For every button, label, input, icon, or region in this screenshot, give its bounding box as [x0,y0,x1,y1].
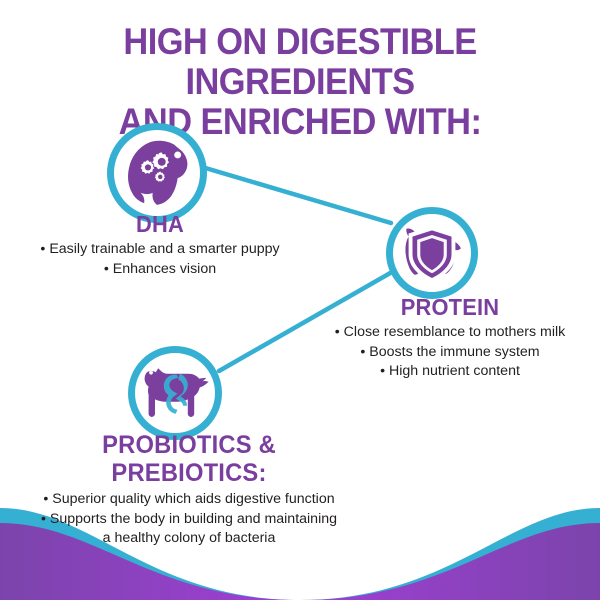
dog-digestive-icon [135,353,215,433]
probiotics-bullet-list: Superior quality which aids digestive fu… [24,490,354,549]
list-item: Superior quality which aids digestive fu… [24,490,354,510]
protein-section: PROTEIN Close resemblance to mothers mil… [300,295,600,382]
list-item: Boosts the immune system [300,343,600,363]
probiotics-title: PROBIOTICS & PREBIOTICS: [32,432,346,487]
dha-title: DHA [8,212,312,237]
protein-title: PROTEIN [308,295,593,320]
list-item: Close resemblance to mothers milk [300,323,600,343]
dha-icon-circle[interactable] [107,123,207,223]
dog-head-gears-icon [114,130,200,216]
dog-shield-icon [393,214,471,292]
dha-section: DHA Easily trainable and a smarter puppy… [0,212,320,279]
list-item: Supports the body in building and mainta… [24,510,354,530]
protein-icon-circle[interactable] [386,207,478,299]
list-item: Easily trainable and a smarter puppy [0,240,320,260]
protein-bullet-list: Close resemblance to mothers milk Boosts… [300,323,600,382]
list-item: Enhances vision [0,260,320,280]
infographic-canvas: HIGH ON DIGESTIBLE INGREDIENTS AND ENRIC… [0,0,600,600]
list-item: a healthy colony of bacteria [24,529,354,549]
list-item: High nutrient content [300,362,600,382]
probiotics-section: PROBIOTICS & PREBIOTICS: Superior qualit… [24,432,354,549]
probiotics-icon-circle[interactable] [128,346,222,440]
dha-bullet-list: Easily trainable and a smarter puppy Enh… [0,240,320,279]
